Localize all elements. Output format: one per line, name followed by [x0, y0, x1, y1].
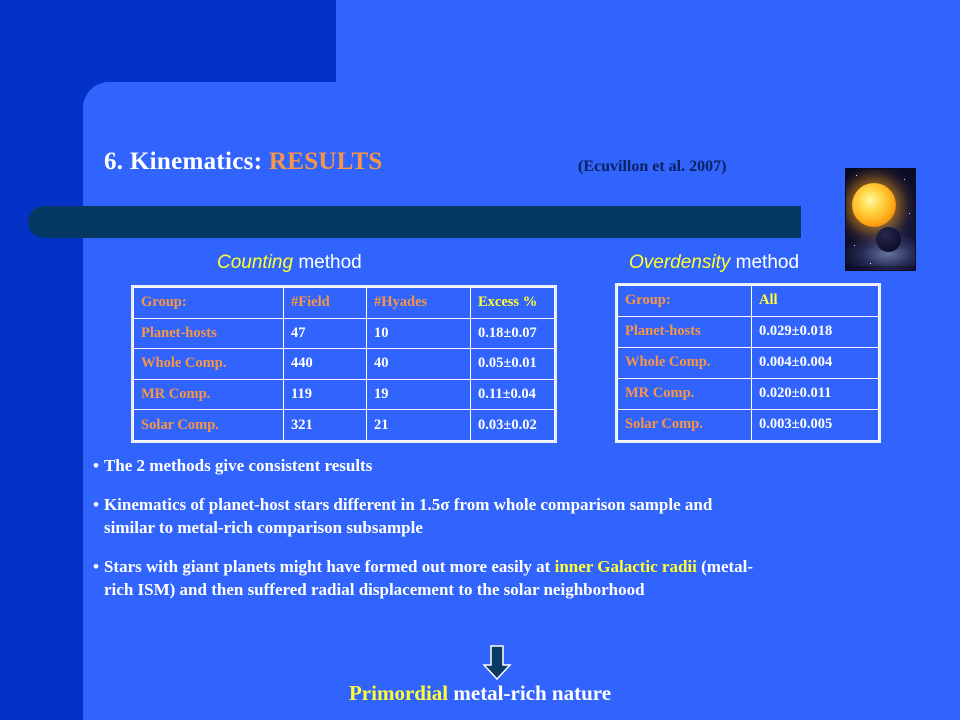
column-header-hyades: #Hyades [367, 288, 471, 319]
row-label: MR Comp. [618, 379, 752, 410]
planet-icon [876, 227, 901, 252]
conclusion-rest: metal-rich nature [448, 681, 611, 705]
row-label: Whole Comp. [618, 348, 752, 379]
cell-hyades: 10 [367, 318, 471, 349]
star-speck [870, 263, 871, 264]
slide-top-left-dark-block [0, 0, 336, 82]
overdensity-method-table: Group: All Planet-hosts 0.029±0.018 Whol… [615, 283, 881, 443]
bullet-text-3-line-2-wrap: rich ISM) and then suffered radial displ… [93, 579, 943, 601]
row-label: Planet-hosts [134, 318, 284, 349]
bullet-marker: • [93, 557, 99, 576]
down-arrow-icon [481, 645, 513, 681]
cell-excess: 0.03±0.02 [471, 410, 555, 441]
table-header-row: Group: All [618, 286, 879, 317]
table-header-row: Group: #Field #Hyades Excess % [134, 288, 555, 319]
star-speck [856, 175, 857, 176]
section-label-counting: Counting method [217, 252, 362, 274]
conclusion-text: Primordial metal-rich nature [0, 681, 960, 706]
cell-hyades: 40 [367, 349, 471, 380]
cell-all: 0.003±0.005 [752, 410, 879, 441]
cell-field: 119 [284, 379, 367, 410]
bullet-marker: • [93, 495, 99, 514]
row-label: Solar Comp. [134, 410, 284, 441]
slide-canvas: 6. Kinematics: RESULTS (Ecuvillon et al.… [0, 0, 960, 720]
citation-reference: (Ecuvillon et al. 2007) [578, 158, 726, 176]
bullet-text-3-line-2: rich ISM) and then suffered radial displ… [104, 580, 645, 599]
cell-hyades: 21 [367, 410, 471, 441]
star-icon [852, 183, 896, 227]
row-label: Whole Comp. [134, 349, 284, 380]
slide-left-dark-strip [0, 0, 83, 720]
bullet-text-3-post: (metal- [697, 557, 753, 576]
bullet-text-2-line-2-wrap: similar to metal-rich comparison subsamp… [93, 517, 943, 539]
row-label: Planet-hosts [618, 317, 752, 348]
cell-field: 321 [284, 410, 367, 441]
section-label-counting-rest: method [293, 252, 362, 273]
bullet-text-3-pre: Stars with giant planets might have form… [104, 557, 555, 576]
bullet-list: •The 2 methods give consistent results •… [93, 455, 943, 618]
row-label: MR Comp. [134, 379, 284, 410]
bullet-text-1: The 2 methods give consistent results [104, 456, 372, 475]
column-header-all: All [752, 286, 879, 317]
bullet-text-2-line-2: similar to metal-rich comparison subsamp… [104, 518, 423, 537]
table-row: MR Comp. 119 19 0.11±0.04 [134, 379, 555, 410]
counting-method-table: Group: #Field #Hyades Excess % Planet-ho… [131, 285, 557, 443]
cell-hyades: 19 [367, 379, 471, 410]
section-label-counting-emphasis: Counting [217, 252, 293, 273]
table-row: MR Comp. 0.020±0.011 [618, 379, 879, 410]
slide-panel-top [336, 0, 960, 84]
cell-excess: 0.05±0.01 [471, 349, 555, 380]
bullet-marker: • [93, 456, 99, 475]
bullet-text-2-line-1: Kinematics of planet-host stars differen… [104, 495, 712, 514]
page-title: 6. Kinematics: RESULTS [104, 148, 383, 176]
column-header-group: Group: [618, 286, 752, 317]
bullet-text-3-highlight: inner Galactic radii [555, 557, 697, 576]
table-row: Whole Comp. 0.004±0.004 [618, 348, 879, 379]
conclusion-highlight: Primordial [349, 681, 448, 705]
cell-all: 0.020±0.011 [752, 379, 879, 410]
table-row: Solar Comp. 321 21 0.03±0.02 [134, 410, 555, 441]
overdensity-table-grid: Group: All Planet-hosts 0.029±0.018 Whol… [617, 285, 879, 441]
section-label-overdensity: Overdensity method [629, 252, 799, 274]
page-title-accent: RESULTS [269, 148, 383, 175]
star-speck [854, 245, 855, 246]
cell-field: 440 [284, 349, 367, 380]
counting-table-grid: Group: #Field #Hyades Excess % Planet-ho… [133, 287, 555, 441]
column-header-group: Group: [134, 288, 284, 319]
section-label-overdensity-emphasis: Overdensity [629, 252, 730, 273]
table-row: Planet-hosts 0.029±0.018 [618, 317, 879, 348]
page-title-main: 6. Kinematics: [104, 148, 269, 175]
cell-field: 47 [284, 318, 367, 349]
column-header-field: #Field [284, 288, 367, 319]
star-and-planet-illustration [845, 168, 916, 271]
bullet-item-1: •The 2 methods give consistent results [93, 455, 943, 477]
bullet-item-3: •Stars with giant planets might have for… [93, 556, 943, 601]
table-row: Planet-hosts 47 10 0.18±0.07 [134, 318, 555, 349]
cell-excess: 0.18±0.07 [471, 318, 555, 349]
title-underline-bar [28, 206, 801, 238]
bullet-item-2: •Kinematics of planet-host stars differe… [93, 494, 943, 539]
section-label-overdensity-rest: method [730, 252, 799, 273]
cell-excess: 0.11±0.04 [471, 379, 555, 410]
table-row: Whole Comp. 440 40 0.05±0.01 [134, 349, 555, 380]
cell-all: 0.004±0.004 [752, 348, 879, 379]
star-speck [904, 179, 905, 180]
row-label: Solar Comp. [618, 410, 752, 441]
star-speck [909, 213, 910, 214]
column-header-excess: Excess % [471, 288, 555, 319]
cell-all: 0.029±0.018 [752, 317, 879, 348]
table-row: Solar Comp. 0.003±0.005 [618, 410, 879, 441]
